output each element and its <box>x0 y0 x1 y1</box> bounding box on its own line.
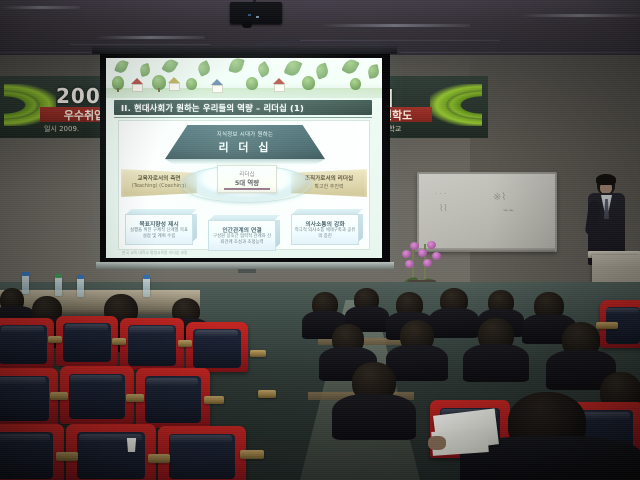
competency-box-3: 의사소통의 강화 적극적 의사소통 체제구축과 공유의 증진 <box>291 209 363 243</box>
whiteboard-writing: ※⌇ <box>493 192 506 203</box>
tree-icon <box>350 78 361 90</box>
slide-header-illustration <box>106 58 382 98</box>
roof-subtitle: 지식정보 시대가 원하는 <box>165 130 325 138</box>
box-3-title: 의사소통의 강화 <box>292 219 358 228</box>
grass-strip <box>106 88 382 98</box>
leaf-icon <box>367 64 380 79</box>
orchid-flower <box>418 249 427 257</box>
seat-armrest <box>596 322 618 329</box>
foreground-person-hand <box>428 436 446 450</box>
ceiling-seam <box>300 40 500 41</box>
auditorium-seat[interactable] <box>0 318 54 368</box>
bottle-cap <box>77 275 84 279</box>
auditorium-seat[interactable] <box>0 424 64 480</box>
bottle-cap <box>143 275 150 279</box>
lecture-hall-photo: 200 우수취업 일시 2009. 수회 공전학도 학교 한경공학교 <box>0 0 640 480</box>
title-divider <box>114 117 372 118</box>
ceiling-seam <box>70 44 210 45</box>
seat-armrest <box>48 336 62 343</box>
seat-armrest <box>204 396 224 404</box>
orchid-flower <box>410 242 419 250</box>
seat-armrest <box>258 390 276 398</box>
orchid-flower <box>405 260 414 268</box>
water-bottle-2 <box>55 276 62 296</box>
light-fixture-center-left <box>95 36 205 39</box>
box-2-detail: 구성원 상호간 협력적 관계와 신뢰관계 조성과 조정능력 <box>211 234 273 247</box>
person-shoulders <box>463 344 529 382</box>
hub-line-1: 리더십 <box>218 170 276 178</box>
screen-roller-rail <box>92 46 397 54</box>
orchid-flower <box>402 250 411 258</box>
screen-bottom-bar <box>96 262 394 269</box>
box-1-title: 목표지향성 제시 <box>126 219 192 228</box>
orchid-flower <box>427 241 436 249</box>
leaf-icon <box>114 59 129 75</box>
swoosh-logo-icon <box>430 84 482 126</box>
auditorium-seat[interactable] <box>186 322 248 372</box>
box-2-title: 인간관계의 연결 <box>209 225 275 234</box>
whiteboard-writing: ⌇⌇ <box>439 204 448 214</box>
leaf-icon <box>196 60 212 77</box>
water-bottle-1 <box>22 274 29 294</box>
orchid-flower <box>423 259 432 267</box>
seat-armrest <box>178 340 192 347</box>
tree-icon <box>246 77 258 90</box>
box-front-face: 인간관계의 연결 구성원 상호간 협력적 관계와 신뢰관계 조성과 조정능력 <box>208 220 276 251</box>
leaf-icon <box>255 61 271 78</box>
ceiling-seam <box>400 52 640 53</box>
leadership-hub: 리더십 5대 역량 <box>217 165 277 193</box>
orchid-flower <box>432 252 441 260</box>
slide-footer: 한국 교육 대학교 평생교육원 리더십 과정 <box>118 250 370 256</box>
auditorium-seat[interactable] <box>136 368 210 428</box>
person-shoulders <box>332 394 416 440</box>
projector-led <box>248 14 251 16</box>
speaker-hair <box>596 174 616 185</box>
box-front-face: 의사소통의 강화 적극적 의사소통 체제구축과 공유의 증진 <box>291 214 359 245</box>
light-fixture-right <box>520 14 640 17</box>
bottle-cap <box>55 274 62 278</box>
person-shoulders <box>429 308 479 338</box>
auditorium-seat[interactable] <box>66 424 156 480</box>
hub-line-2: 5대 역량 <box>218 178 276 187</box>
projector-lens <box>242 22 252 28</box>
projected-slide: II. 현대사회가 원하는 우리들의 역량 – 리더십 (1) 지식정보 시대가… <box>106 58 382 258</box>
banner-subtext-left: 일시 2009. <box>44 124 79 134</box>
auditorium-seat[interactable] <box>120 318 184 370</box>
leaf-icon <box>139 63 152 77</box>
box-front-face: 목표지향성 제시 실행을 위한 구체적 단계별 목표설정 및 계획 수립 <box>125 214 193 245</box>
leaf-icon <box>228 58 244 74</box>
tree-trunk <box>158 88 160 92</box>
leadership-roof-shape: 지식정보 시대가 원하는 리 더 십 <box>165 125 325 159</box>
competency-box-2: 인간관계의 연결 구성원 상호간 협력적 관계와 신뢰관계 조성과 조정능력 <box>208 215 280 249</box>
slide-body: 지식정보 시대가 원하는 리 더 십 교육자로서의 측면 (Teaching) … <box>118 120 370 250</box>
seat-armrest <box>126 394 144 402</box>
water-bottle-4 <box>143 277 150 297</box>
bottle-cap <box>22 272 29 276</box>
box-3-detail: 적극적 의사소통 체제구축과 공유의 증진 <box>294 228 356 241</box>
leaf-icon <box>341 58 360 76</box>
tree-icon <box>302 76 315 90</box>
auditorium-seat[interactable] <box>60 366 134 424</box>
roof-heading: 리 더 십 <box>165 139 325 155</box>
hub-underline <box>224 188 270 190</box>
auditorium-seat[interactable] <box>158 426 246 480</box>
seat-armrest <box>112 338 126 345</box>
auditorium-seat[interactable] <box>56 316 118 366</box>
projector-led <box>256 16 259 18</box>
seat-armrest <box>148 454 170 463</box>
tree-icon <box>186 78 197 90</box>
seat-armrest <box>240 450 264 459</box>
tree-trunk <box>117 88 119 92</box>
light-fixture-center-right <box>320 24 470 27</box>
light-fixture-left <box>0 6 80 9</box>
leaf-icon <box>161 58 178 75</box>
leaf-icon <box>284 58 303 78</box>
banner-year-left: 200 <box>56 84 101 108</box>
competency-box-1: 목표지향성 제시 실행을 위한 구체적 단계별 목표설정 및 계획 수립 <box>125 209 197 243</box>
seat-armrest <box>50 392 68 400</box>
water-bottle-3 <box>77 277 84 297</box>
seat-armrest <box>56 452 78 461</box>
ceiling-projector <box>230 2 282 24</box>
seat-armrest <box>250 350 266 357</box>
box-1-detail: 실행을 위한 구체적 단계별 목표설정 및 계획 수립 <box>128 228 190 241</box>
screen-pull-handle <box>238 269 256 273</box>
whiteboard-writing: ⌁⌁ <box>503 206 514 216</box>
slide-title: II. 현대사회가 원하는 우리들의 역량 – 리더십 (1) <box>114 100 372 115</box>
whiteboard-writing: · · · <box>435 190 446 198</box>
leaf-icon <box>314 62 330 79</box>
